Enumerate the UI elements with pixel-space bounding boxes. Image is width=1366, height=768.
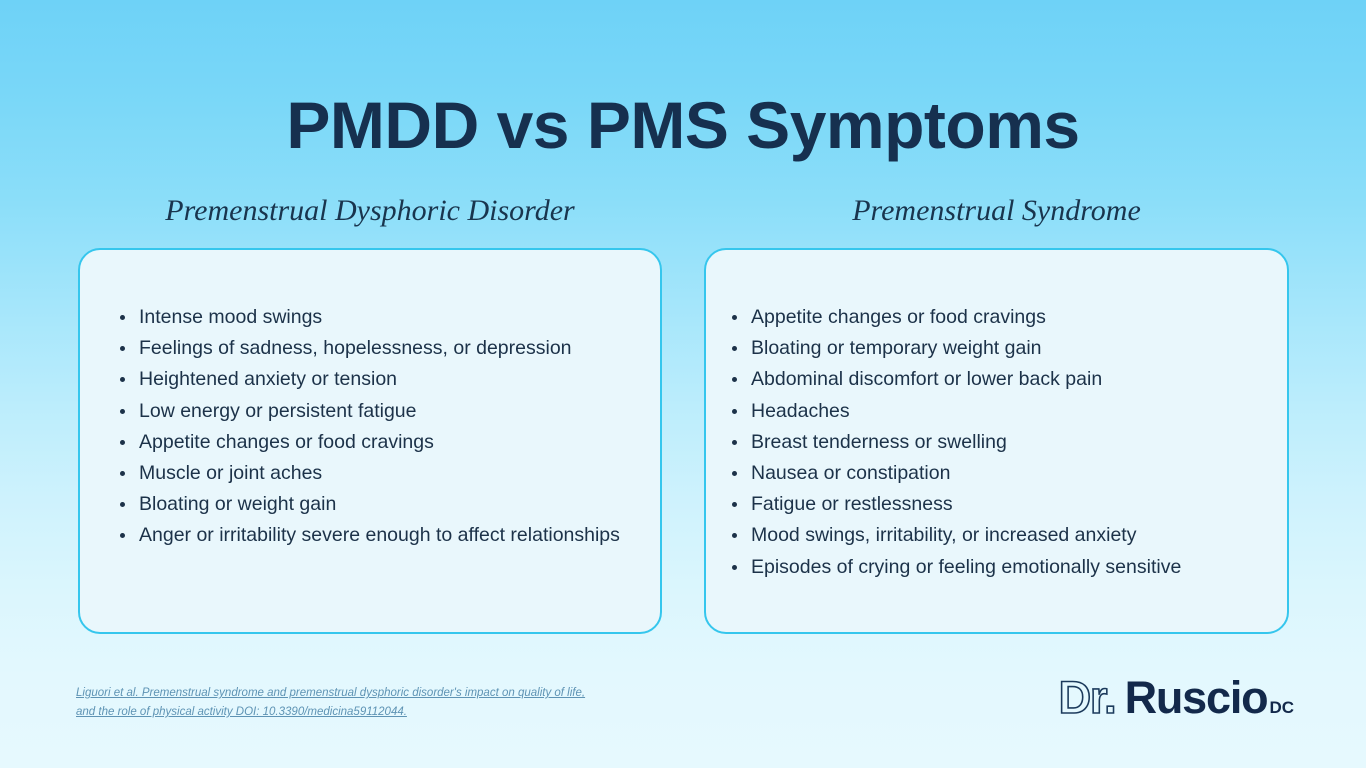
list-item: Headaches	[726, 396, 1271, 427]
list-item: Low energy or persistent fatigue	[114, 396, 640, 427]
list-item: Fatigue or restlessness	[726, 489, 1271, 520]
infographic-canvas: PMDD vs PMS Symptoms Premenstrual Dyspho…	[0, 0, 1366, 768]
column-heading-pmdd: Premenstrual Dysphoric Disorder	[78, 192, 662, 230]
page-title: PMDD vs PMS Symptoms	[0, 86, 1366, 164]
logo-brand: Ruscio	[1125, 675, 1268, 720]
list-item: Appetite changes or food cravings	[114, 427, 640, 458]
logo-prefix: Dr.	[1059, 675, 1125, 720]
symptom-list-pmdd: Intense mood swings Feelings of sadness,…	[114, 302, 640, 552]
citation-link[interactable]: Liguori et al. Premenstrual syndrome and…	[76, 684, 596, 722]
list-item: Anger or irritability severe enough to a…	[114, 520, 640, 551]
list-item: Mood swings, irritability, or increased …	[726, 520, 1271, 551]
list-item: Breast tenderness or swelling	[726, 427, 1271, 458]
list-item: Nausea or constipation	[726, 458, 1271, 489]
list-item: Episodes of crying or feeling emotionall…	[726, 552, 1271, 583]
list-item: Appetite changes or food cravings	[726, 302, 1271, 333]
column-heading-pms: Premenstrual Syndrome	[704, 192, 1289, 230]
symptom-card-pms: Appetite changes or food cravings Bloati…	[704, 248, 1289, 634]
list-item: Muscle or joint aches	[114, 458, 640, 489]
list-item: Bloating or temporary weight gain	[726, 333, 1271, 364]
symptom-list-pms: Appetite changes or food cravings Bloati…	[726, 302, 1271, 583]
symptom-card-pmdd: Intense mood swings Feelings of sadness,…	[78, 248, 662, 634]
brand-logo: Dr. Ruscio DC	[1059, 675, 1294, 720]
list-item: Bloating or weight gain	[114, 489, 640, 520]
list-item: Heightened anxiety or tension	[114, 364, 640, 395]
list-item: Feelings of sadness, hopelessness, or de…	[114, 333, 640, 364]
list-item: Intense mood swings	[114, 302, 640, 333]
logo-suffix: DC	[1267, 699, 1294, 716]
list-item: Abdominal discomfort or lower back pain	[726, 364, 1271, 395]
